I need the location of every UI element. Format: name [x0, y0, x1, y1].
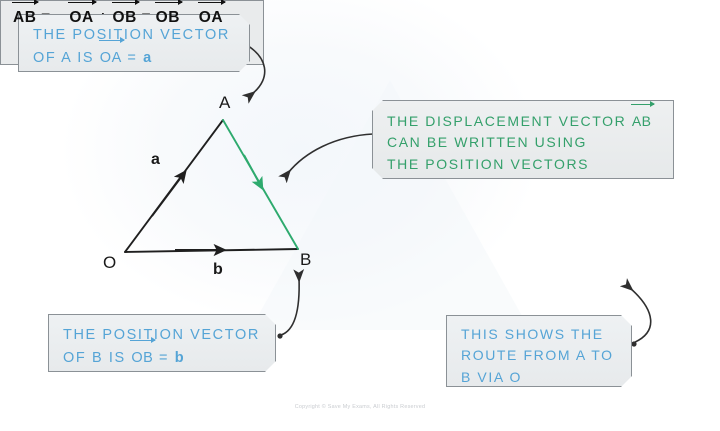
vector-OA-notation: OA [100, 46, 122, 69]
callout-a-line1: THE POSITION VECTOR [33, 24, 249, 46]
vector-AB-notation: AB [632, 110, 652, 132]
callout-ab-line2: CAN BE WRITTEN USING [387, 132, 673, 153]
edge-label-a: a [151, 151, 160, 169]
diagram-canvas: O A B a b THE POSITION VECTOR OF A IS OA… [0, 0, 720, 431]
eq-vector-OB-2: OB [156, 8, 180, 27]
callout-displacement-vector-ab: THE DISPLACEMENT VECTOR AB CAN BE WRITTE… [372, 100, 674, 179]
callout-b-line1: THE POSITION VECTOR [63, 324, 275, 346]
eq-vector-OA-2: OA [199, 8, 223, 27]
callout-route-line3: B VIA O [461, 367, 631, 388]
connector-to-equation [630, 288, 651, 343]
connector-to-AB [288, 134, 373, 173]
vector-a-arrow [152, 172, 185, 216]
callout-a-line2-prefix: OF A IS [33, 50, 100, 66]
callout-a-bold-a: a [143, 50, 153, 66]
vertex-label-O: O [103, 253, 116, 273]
edge-label-b: b [213, 261, 223, 279]
callout-position-vector-b: THE POSITION VECTOR OF B IS OB = b [48, 314, 276, 372]
eq-vector-OB-1: OB [113, 8, 137, 27]
vector-OB-notation: OB [131, 346, 153, 369]
eq-vector-AB: AB [13, 8, 36, 27]
connector-to-B [281, 278, 299, 335]
callout-ab-line1-prefix: THE DISPLACEMENT VECTOR [387, 113, 632, 129]
triangle-sides [125, 120, 298, 252]
vertex-label-A: A [219, 93, 230, 113]
vertex-label-B: B [300, 250, 311, 270]
callout-b-equals: = [153, 350, 174, 366]
vector-direction-arrows [152, 155, 262, 250]
callout-connectors [239, 39, 650, 346]
callout-b-line2: OF B IS OB = b [63, 346, 275, 369]
callout-b-bold-b: b [175, 350, 185, 366]
callout-ab-line3: THE POSITION VECTORS [387, 154, 673, 175]
vector-ab-arrow [244, 155, 262, 188]
connector-dot-b [277, 333, 282, 338]
eq-vector-OA-1: OA [69, 8, 93, 27]
callout-route-line2: ROUTE FROM A TO [461, 345, 631, 366]
callout-route-description: THIS SHOWS THE ROUTE FROM A TO B VIA O [446, 315, 632, 387]
callout-a-equals: = [122, 50, 143, 66]
callout-a-line2: OF A IS OA = a [33, 46, 249, 69]
callout-route-line1: THIS SHOWS THE [461, 324, 631, 345]
callout-ab-line1: THE DISPLACEMENT VECTOR AB [387, 110, 673, 132]
copyright-footer: Copyright © Save My Exams, All Rights Re… [0, 404, 720, 410]
connector-dot-route [631, 341, 636, 346]
callout-b-line2-prefix: OF B IS [63, 350, 131, 366]
